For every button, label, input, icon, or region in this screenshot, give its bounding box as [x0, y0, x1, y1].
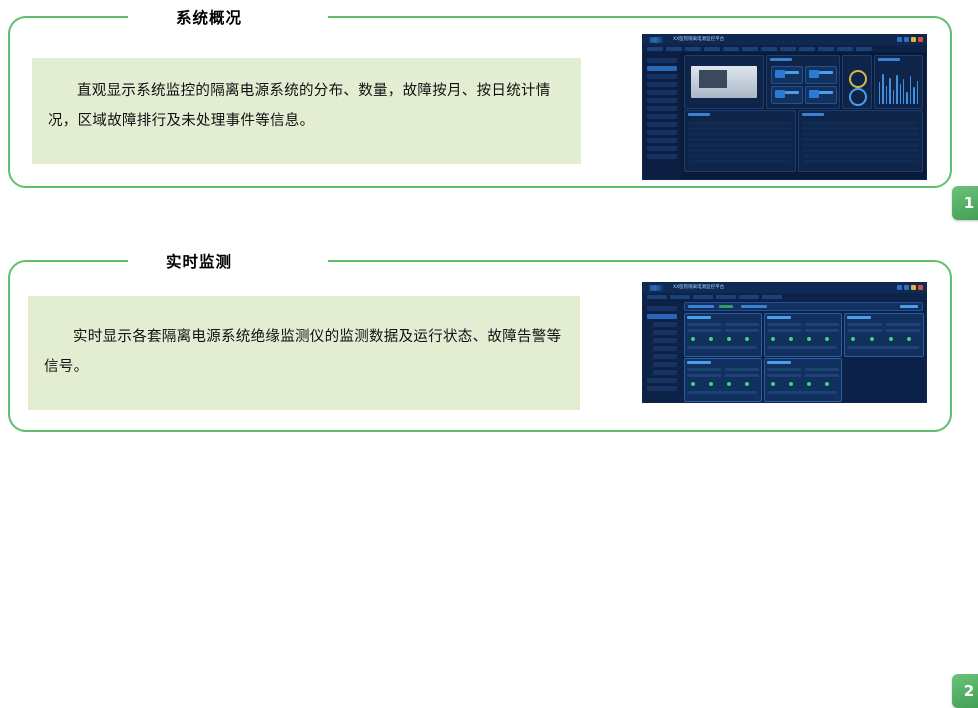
thumb-icon-a	[897, 285, 902, 290]
thumb-device-card-title	[687, 316, 711, 319]
thumb-filter-field	[688, 305, 714, 308]
thumb-sidebar-item	[647, 378, 677, 383]
thumb-sidebar-item	[647, 90, 677, 95]
thumb-kpi-card	[805, 86, 837, 104]
thumb-menu-item	[761, 47, 777, 51]
status-indicator	[727, 337, 731, 341]
status-indicator	[691, 382, 695, 386]
thumb-sidebar-item	[647, 386, 677, 391]
thumb-icon-a	[897, 37, 902, 42]
thumb-icon-b	[904, 37, 909, 42]
thumb-sidebar-item	[653, 362, 677, 367]
thumb-close-icon	[918, 37, 923, 42]
thumb-menu-item	[647, 47, 663, 51]
thumb-menu-item	[739, 295, 759, 299]
thumb-sidebar-item	[647, 138, 677, 143]
thumb-menu-item	[837, 47, 853, 51]
table-row	[688, 160, 792, 164]
thumb-bar-chart	[879, 74, 918, 104]
status-indicator	[807, 337, 811, 341]
status-indicator	[851, 337, 855, 341]
thumb-close-icon	[918, 285, 923, 290]
section-title: 实时监测	[166, 250, 232, 272]
thumb-sidebar-item	[653, 370, 677, 375]
thumb-icon-b	[904, 285, 909, 290]
section-text-panel: 实时显示各套隔离电源系统绝缘监测仪的监测数据及运行状态、故障告警等信号。	[28, 296, 580, 410]
thumb-device-card-title	[767, 316, 791, 319]
thumb-menu-item	[780, 47, 796, 51]
thumb-menu-item	[670, 295, 690, 299]
thumb-sidebar-item	[647, 106, 677, 111]
thumb-filter-bar	[684, 302, 923, 311]
thumb-sidebar-item	[653, 330, 677, 335]
thumb-sidebar	[643, 52, 682, 179]
thumb-sidebar-item	[653, 338, 677, 343]
thumb-menu-item	[762, 295, 782, 299]
table-row	[688, 127, 792, 131]
table-row	[688, 121, 792, 125]
thumb-minimize-icon	[911, 37, 916, 42]
table-row	[688, 154, 792, 158]
thumb-sidebar-item	[653, 322, 677, 327]
thumb-menu-item	[685, 47, 701, 51]
table-row	[802, 127, 919, 131]
section-system-overview: 系统概况 直观显示系统监控的隔离电源系统的分布、数量，故障按月、按日统计情况，区…	[8, 8, 952, 188]
thumb-sidebar-item	[647, 306, 677, 311]
status-indicator	[870, 337, 874, 341]
thumb-menu-item	[818, 47, 834, 51]
thumb-logo-icon	[649, 285, 663, 291]
thumb-panel-title	[802, 113, 824, 116]
thumb-sidebar-item	[653, 354, 677, 359]
thumb-dashboard-body	[681, 52, 926, 179]
thumb-device-card	[764, 358, 842, 402]
thumb-menu-item	[716, 295, 736, 299]
table-row	[688, 149, 792, 153]
thumb-sidebar-item	[647, 98, 677, 103]
system-overview-dashboard-screenshot: XX医院隔离电源监控平台	[642, 34, 927, 180]
thumb-menu-item	[704, 47, 720, 51]
thumb-panel-title	[770, 58, 792, 61]
section-body-text: 实时显示各套隔离电源系统绝缘监测仪的监测数据及运行状态、故障告警等信号。	[28, 296, 580, 382]
thumb-menu-item	[693, 295, 713, 299]
thumb-device-card	[764, 313, 842, 357]
thumb-window-buttons	[897, 285, 923, 290]
thumb-device-card	[684, 358, 762, 402]
table-row	[688, 132, 792, 136]
table-row	[802, 149, 919, 153]
status-indicator	[771, 337, 775, 341]
table-row	[688, 143, 792, 147]
status-indicator	[709, 337, 713, 341]
status-indicator	[745, 382, 749, 386]
thumb-sidebar-item-active	[647, 66, 677, 71]
document-page: 系统概况 直观显示系统监控的隔离电源系统的分布、数量，故障按月、按日统计情况，区…	[0, 0, 978, 458]
thumb-menu-item	[742, 47, 758, 51]
thumb-sidebar-item	[647, 154, 677, 159]
thumb-gauge-icon	[849, 88, 867, 106]
thumb-bar-chart-panel	[874, 55, 923, 109]
status-indicator	[709, 382, 713, 386]
thumb-sidebar-item	[647, 74, 677, 79]
page-number-badge: 1	[952, 186, 978, 220]
thumb-kpi-card	[771, 66, 803, 84]
status-indicator	[825, 382, 829, 386]
thumb-sidebar-item	[647, 82, 677, 87]
status-indicator	[807, 382, 811, 386]
thumb-sidebar-item	[647, 146, 677, 151]
thumb-device-image-panel	[684, 55, 764, 109]
thumb-menu-item	[856, 47, 872, 51]
thumb-kpi-panel	[766, 55, 840, 109]
table-row	[802, 138, 919, 142]
status-indicator	[789, 337, 793, 341]
thumb-filter-button	[719, 305, 733, 308]
thumb-device-card	[844, 313, 924, 357]
table-row	[802, 132, 919, 136]
thumb-sidebar-item	[647, 130, 677, 135]
status-indicator	[745, 337, 749, 341]
status-indicator	[771, 382, 775, 386]
thumb-table-panel-left	[684, 110, 796, 172]
section-realtime-monitoring: 实时监测 实时显示各套隔离电源系统绝缘监测仪的监测数据及运行状态、故障告警等信号…	[8, 252, 952, 432]
table-row	[802, 121, 919, 125]
thumb-sidebar-item	[647, 58, 677, 63]
status-indicator	[789, 382, 793, 386]
status-indicator	[907, 337, 911, 341]
thumb-app-title: XX医院隔离电源监控平台	[673, 284, 724, 290]
thumb-gauge-panel	[842, 55, 872, 109]
thumb-kpi-card	[771, 86, 803, 104]
thumb-panel-title	[688, 113, 710, 116]
thumb-menu-item	[666, 47, 682, 51]
section-title: 系统概况	[176, 6, 242, 28]
thumb-refresh-button	[900, 305, 918, 308]
thumb-menu-item	[647, 295, 667, 299]
table-row	[802, 143, 919, 147]
thumb-filter-field	[741, 305, 767, 308]
table-row	[802, 154, 919, 158]
thumb-device-card-title	[687, 361, 711, 364]
thumb-panel-title	[878, 58, 900, 61]
thumb-dashboard-body	[681, 300, 926, 402]
section-body-text: 直观显示系统监控的隔离电源系统的分布、数量，故障按月、按日统计情况，区域故障排行…	[32, 58, 581, 136]
thumb-gauge-icon	[849, 70, 867, 88]
status-indicator	[825, 337, 829, 341]
thumb-logo-icon	[649, 37, 663, 43]
thumb-device-card	[684, 313, 762, 357]
section-text-panel: 直观显示系统监控的隔离电源系统的分布、数量，故障按月、按日统计情况，区域故障排行…	[32, 58, 581, 164]
thumb-device-card-title	[767, 361, 791, 364]
page-number-badge: 2	[952, 674, 978, 708]
thumb-sidebar-item-active	[647, 314, 677, 319]
thumb-sidebar-item	[647, 114, 677, 119]
thumb-kpi-card	[805, 66, 837, 84]
thumb-app-title: XX医院隔离电源监控平台	[673, 36, 724, 42]
thumb-sidebar-item	[653, 346, 677, 351]
thumb-menu-item	[723, 47, 739, 51]
thumb-table-rows	[799, 119, 922, 165]
thumb-device-card-title	[847, 316, 871, 319]
thumb-table-rows	[685, 119, 795, 165]
thumb-minimize-icon	[911, 285, 916, 290]
thumb-sidebar	[643, 300, 682, 402]
realtime-monitoring-dashboard-screenshot: XX医院隔离电源监控平台	[642, 282, 927, 403]
thumb-device-screen	[699, 70, 727, 88]
thumb-sidebar-item	[647, 122, 677, 127]
thumb-table-panel-right	[798, 110, 923, 172]
thumb-menu-item	[799, 47, 815, 51]
status-indicator	[889, 337, 893, 341]
thumb-window-buttons	[897, 37, 923, 42]
table-row	[802, 160, 919, 164]
status-indicator	[727, 382, 731, 386]
table-row	[688, 138, 792, 142]
status-indicator	[691, 337, 695, 341]
